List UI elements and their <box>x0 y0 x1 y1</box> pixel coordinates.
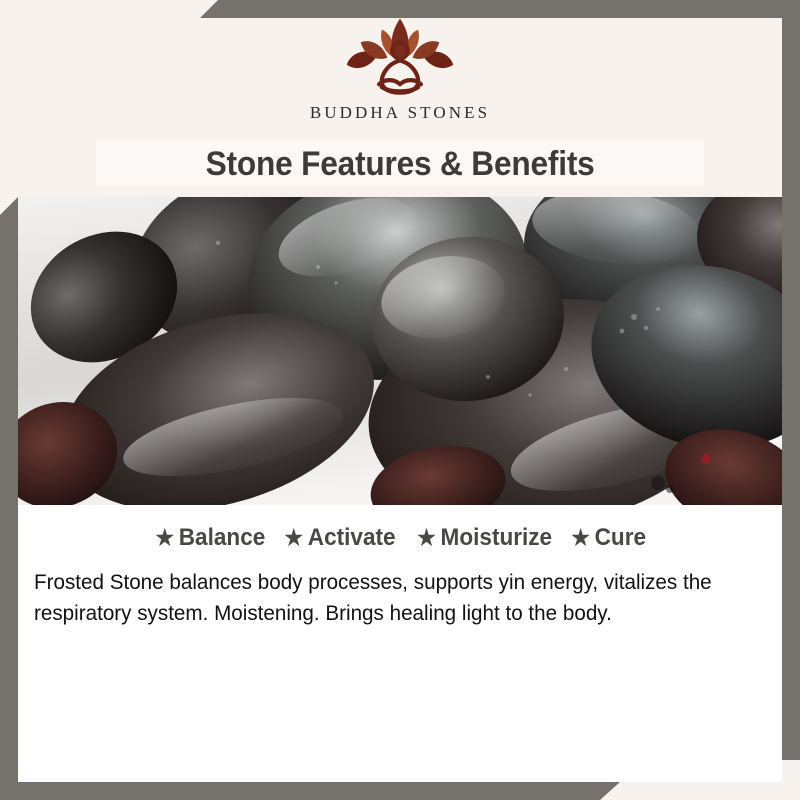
benefit-item-moisturize: ★ Moisturize <box>417 524 552 552</box>
benefit-label: Balance <box>178 524 265 552</box>
description-text: Frosted Stone balances body processes, s… <box>34 567 731 628</box>
benefits-list: ★ Balance ★ Activate ★ Moisturize ★ Cure <box>18 524 782 552</box>
benefit-label: Cure <box>595 524 646 552</box>
stone-photo: Frosted Stone <box>18 197 782 505</box>
benefit-item-cure: ★ Cure <box>571 524 646 552</box>
content-panel: ★ Balance ★ Activate ★ Moisturize ★ Cure… <box>18 505 782 782</box>
title-banner: Stone Features & Benefits <box>96 141 704 186</box>
benefit-item-activate: ★ Activate <box>285 524 396 552</box>
frame-left-bar <box>0 197 18 800</box>
benefit-item-balance: ★ Balance <box>155 524 265 552</box>
frame-top-bar <box>200 0 800 18</box>
star-icon: ★ <box>417 527 436 549</box>
star-icon: ★ <box>571 527 590 549</box>
poster-card: BUDDHA STONES Stone Features & Benefits <box>0 0 800 800</box>
benefit-label: Moisturize <box>440 524 552 552</box>
stone-photo-illustration <box>18 197 782 505</box>
star-icon: ★ <box>285 527 304 549</box>
benefit-label: Activate <box>308 524 396 552</box>
page-title: Stone Features & Benefits <box>206 147 595 181</box>
frame-right-bar <box>782 0 800 760</box>
brand-wordmark: BUDDHA STONES <box>310 104 490 121</box>
star-icon: ★ <box>155 527 174 549</box>
brand-logo: BUDDHA STONES <box>18 14 782 121</box>
header: BUDDHA STONES Stone Features & Benefits <box>18 0 782 197</box>
frame-bottom-bar <box>0 782 620 800</box>
lotus-meditation-figure-icon <box>330 14 470 100</box>
